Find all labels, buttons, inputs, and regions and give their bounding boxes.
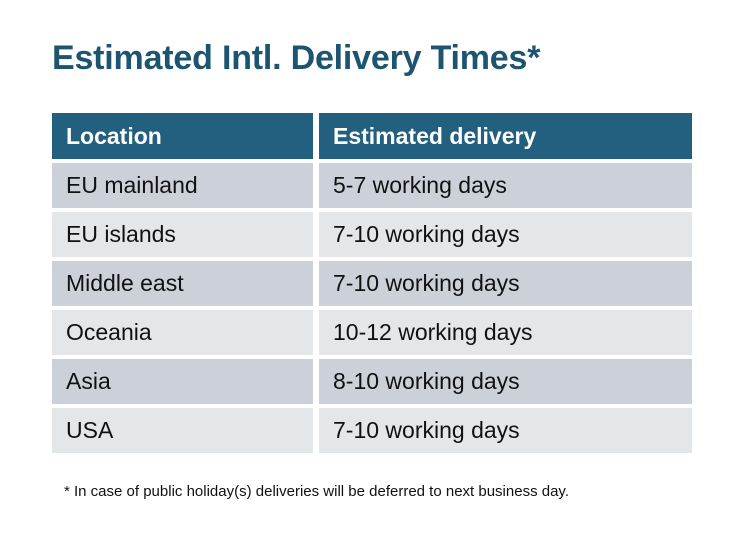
column-header-location: Location (52, 113, 313, 159)
cell-estimated-delivery: 8-10 working days (319, 359, 692, 404)
table-row: Middle east 7-10 working days (52, 261, 692, 306)
cell-location: EU mainland (52, 163, 313, 208)
footnote-text: * In case of public holiday(s) deliverie… (64, 482, 569, 502)
column-header-estimated-delivery: Estimated delivery (319, 113, 692, 159)
cell-estimated-delivery: 7-10 working days (319, 212, 692, 257)
table-row: Oceania 10-12 working days (52, 310, 692, 355)
table-row: Asia 8-10 working days (52, 359, 692, 404)
cell-location: Asia (52, 359, 313, 404)
table-header-row: Location Estimated delivery (52, 113, 692, 159)
cell-location: Oceania (52, 310, 313, 355)
cell-estimated-delivery: 5-7 working days (319, 163, 692, 208)
cell-estimated-delivery: 7-10 working days (319, 261, 692, 306)
table-row: USA 7-10 working days (52, 408, 692, 453)
delivery-times-table: Location Estimated delivery EU mainland … (52, 113, 692, 453)
table-row: EU islands 7-10 working days (52, 212, 692, 257)
page-title: Estimated Intl. Delivery Times* (52, 36, 540, 80)
cell-location: Middle east (52, 261, 313, 306)
delivery-times-page: Estimated Intl. Delivery Times* Location… (0, 0, 745, 536)
cell-location: EU islands (52, 212, 313, 257)
cell-estimated-delivery: 10-12 working days (319, 310, 692, 355)
cell-estimated-delivery: 7-10 working days (319, 408, 692, 453)
table-row: EU mainland 5-7 working days (52, 163, 692, 208)
cell-location: USA (52, 408, 313, 453)
